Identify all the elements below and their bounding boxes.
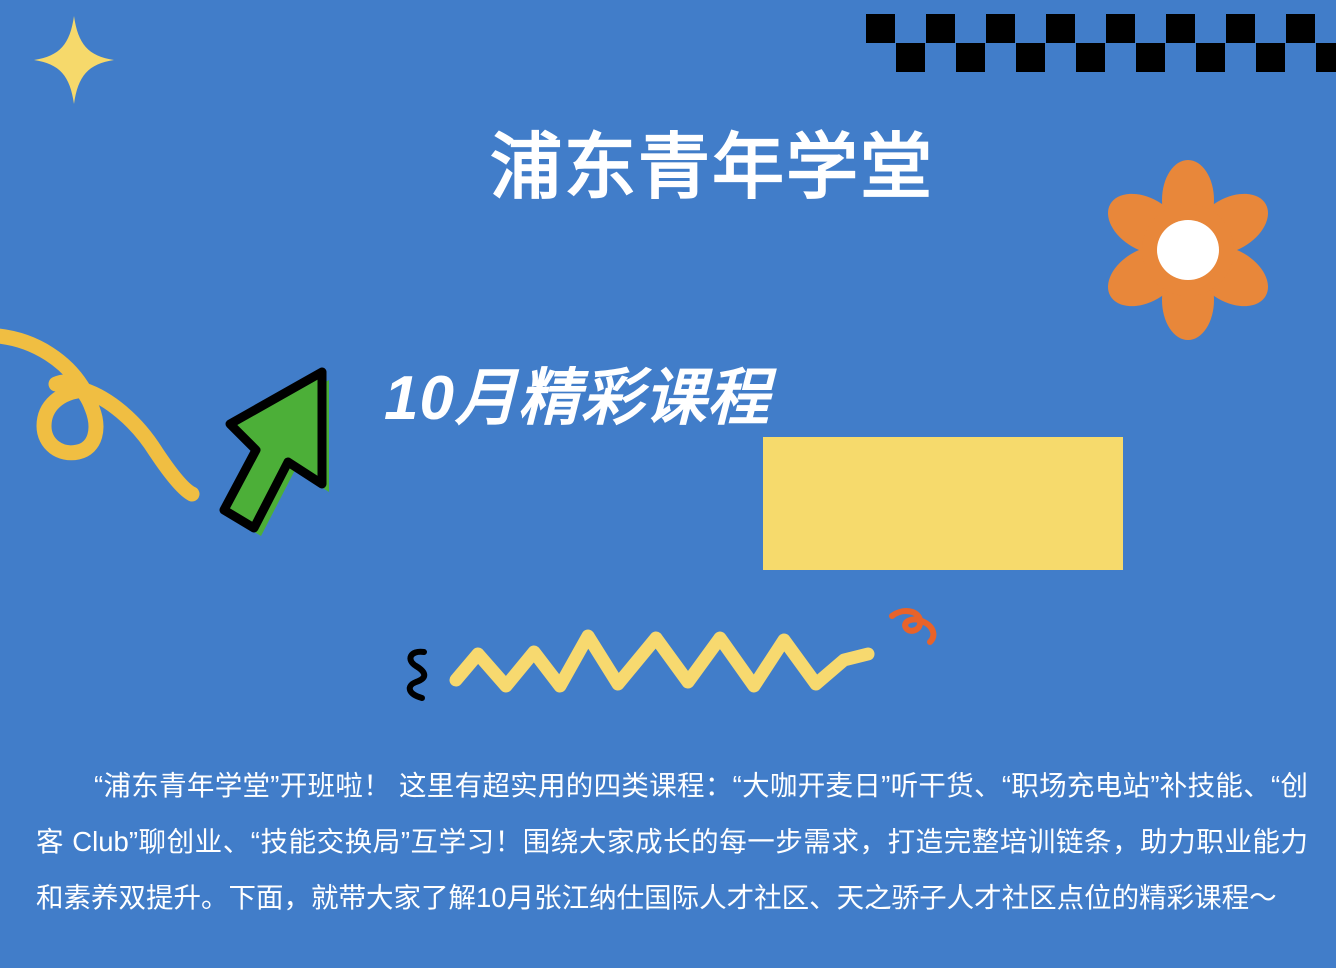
looping-swirl-line-icon bbox=[0, 322, 222, 504]
cursor-arrow-icon bbox=[212, 358, 384, 562]
zigzag-line-icon bbox=[448, 612, 900, 702]
intro-paragraph: “浦东青年学堂”开班啦！ 这里有超实用的四类课程：“大咖开麦日”听干货、“职场充… bbox=[36, 758, 1308, 926]
poster-canvas: 浦东青年学堂 10月精彩课程 “浦东青年学堂”开班啦！ 这里有超实用的四类课程：… bbox=[0, 0, 1336, 968]
black-squiggle-icon bbox=[398, 646, 440, 704]
subtitle: 10月精彩课程 bbox=[384, 368, 770, 430]
orange-loop-doodle-icon bbox=[884, 606, 946, 658]
yellow-highlight-block bbox=[763, 437, 1123, 570]
page-title: 浦东青年学堂 bbox=[0, 132, 1336, 204]
four-point-sparkle-icon bbox=[32, 14, 116, 106]
checkerboard-strip-icon bbox=[860, 0, 1336, 90]
